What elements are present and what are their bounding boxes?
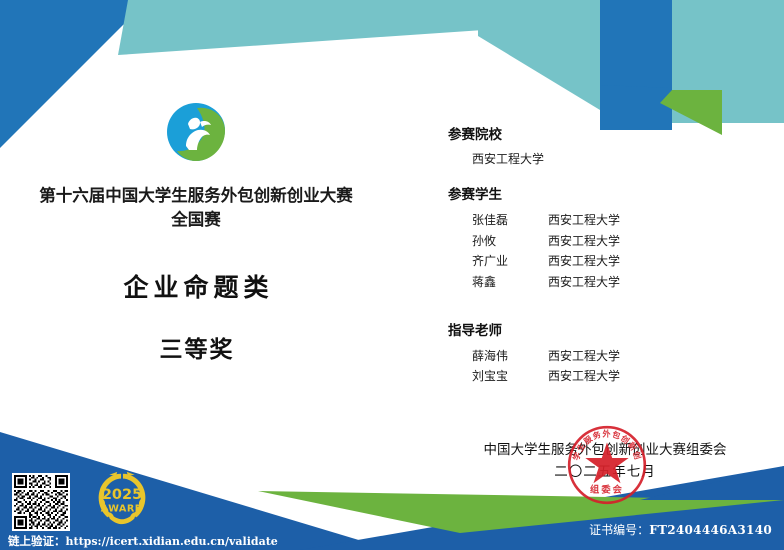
advisor-row: 刘宝宝 西安工程大学 [448, 366, 748, 387]
deco-top-right-blue-panel [600, 0, 672, 128]
student-name: 孙攸 [472, 231, 548, 252]
school-heading: 参赛院校 [448, 123, 748, 143]
advisor-name: 薛海伟 [472, 346, 548, 367]
certificate-page: 第十六届中国大学生服务外包创新创业大赛 全国赛 企业命题类 三等奖 参赛院校 西… [0, 0, 784, 550]
student-row: 孙攸 西安工程大学 [448, 231, 748, 252]
school-name: 西安工程大学 [448, 150, 748, 167]
svg-text:组委会: 组委会 [590, 484, 624, 496]
student-school: 西安工程大学 [548, 272, 748, 293]
deco-top-right-teal-column [672, 0, 784, 123]
student-row: 张佳磊 西安工程大学 [448, 210, 748, 231]
award-category: 企业命题类 [0, 268, 392, 304]
advisor-school: 西安工程大学 [548, 346, 748, 367]
issue-date: 二〇二五年七月 [440, 461, 770, 483]
advisor-name: 刘宝宝 [472, 366, 548, 387]
validate-label: 链上验证： [8, 534, 66, 548]
competition-logo-icon [164, 100, 228, 164]
issuing-organization: 中国大学生服务外包创新创业大赛组委会 [440, 440, 770, 461]
competition-title: 第十六届中国大学生服务外包创新创业大赛 [0, 184, 392, 208]
award-badge-year-text: 2025 [102, 487, 142, 503]
validate-line: 链上验证：https://icert.xidian.edu.cn/validat… [8, 533, 278, 549]
student-school: 西安工程大学 [548, 210, 748, 231]
certificate-number-label: 证书编号： [589, 523, 649, 537]
student-name: 齐广业 [472, 251, 548, 272]
students-heading: 参赛学生 [448, 183, 748, 203]
student-school: 西安工程大学 [548, 251, 748, 272]
advisor-row: 薛海伟 西安工程大学 [448, 346, 748, 367]
signature-block: 中国大学生服务外包创新创业大赛组委会 二〇二五年七月 [440, 440, 770, 483]
deco-top-center-teal-band [478, 0, 600, 110]
award-level: 三等奖 [0, 330, 392, 364]
certificate-main-block: 第十六届中国大学生服务外包创新创业大赛 全国赛 企业命题类 三等奖 [0, 100, 392, 364]
award-badge-word-text: AWARD [101, 504, 144, 515]
competition-stage: 全国赛 [0, 208, 392, 232]
student-school: 西安工程大学 [548, 231, 748, 252]
validate-url[interactable]: https://icert.xidian.edu.cn/validate [66, 535, 278, 548]
certificate-number-value: FT2404446A3140 [649, 523, 772, 537]
deco-top-left-teal-wedge [118, 0, 600, 55]
laurel-award-badge-icon: 2025 AWARD [88, 468, 156, 528]
student-row: 齐广业 西安工程大学 [448, 251, 748, 272]
certificate-number: 证书编号：FT2404446A3140 [589, 521, 772, 538]
student-row: 蒋鑫 西安工程大学 [448, 272, 748, 293]
participants-panel: 参赛院校 西安工程大学 参赛学生 张佳磊 西安工程大学 孙攸 西安工程大学 齐广… [448, 123, 748, 387]
advisor-school: 西安工程大学 [548, 366, 748, 387]
student-name: 张佳磊 [472, 210, 548, 231]
advisors-heading: 指导老师 [448, 319, 748, 339]
student-name: 蒋鑫 [472, 272, 548, 293]
qr-code-icon[interactable] [12, 473, 70, 531]
